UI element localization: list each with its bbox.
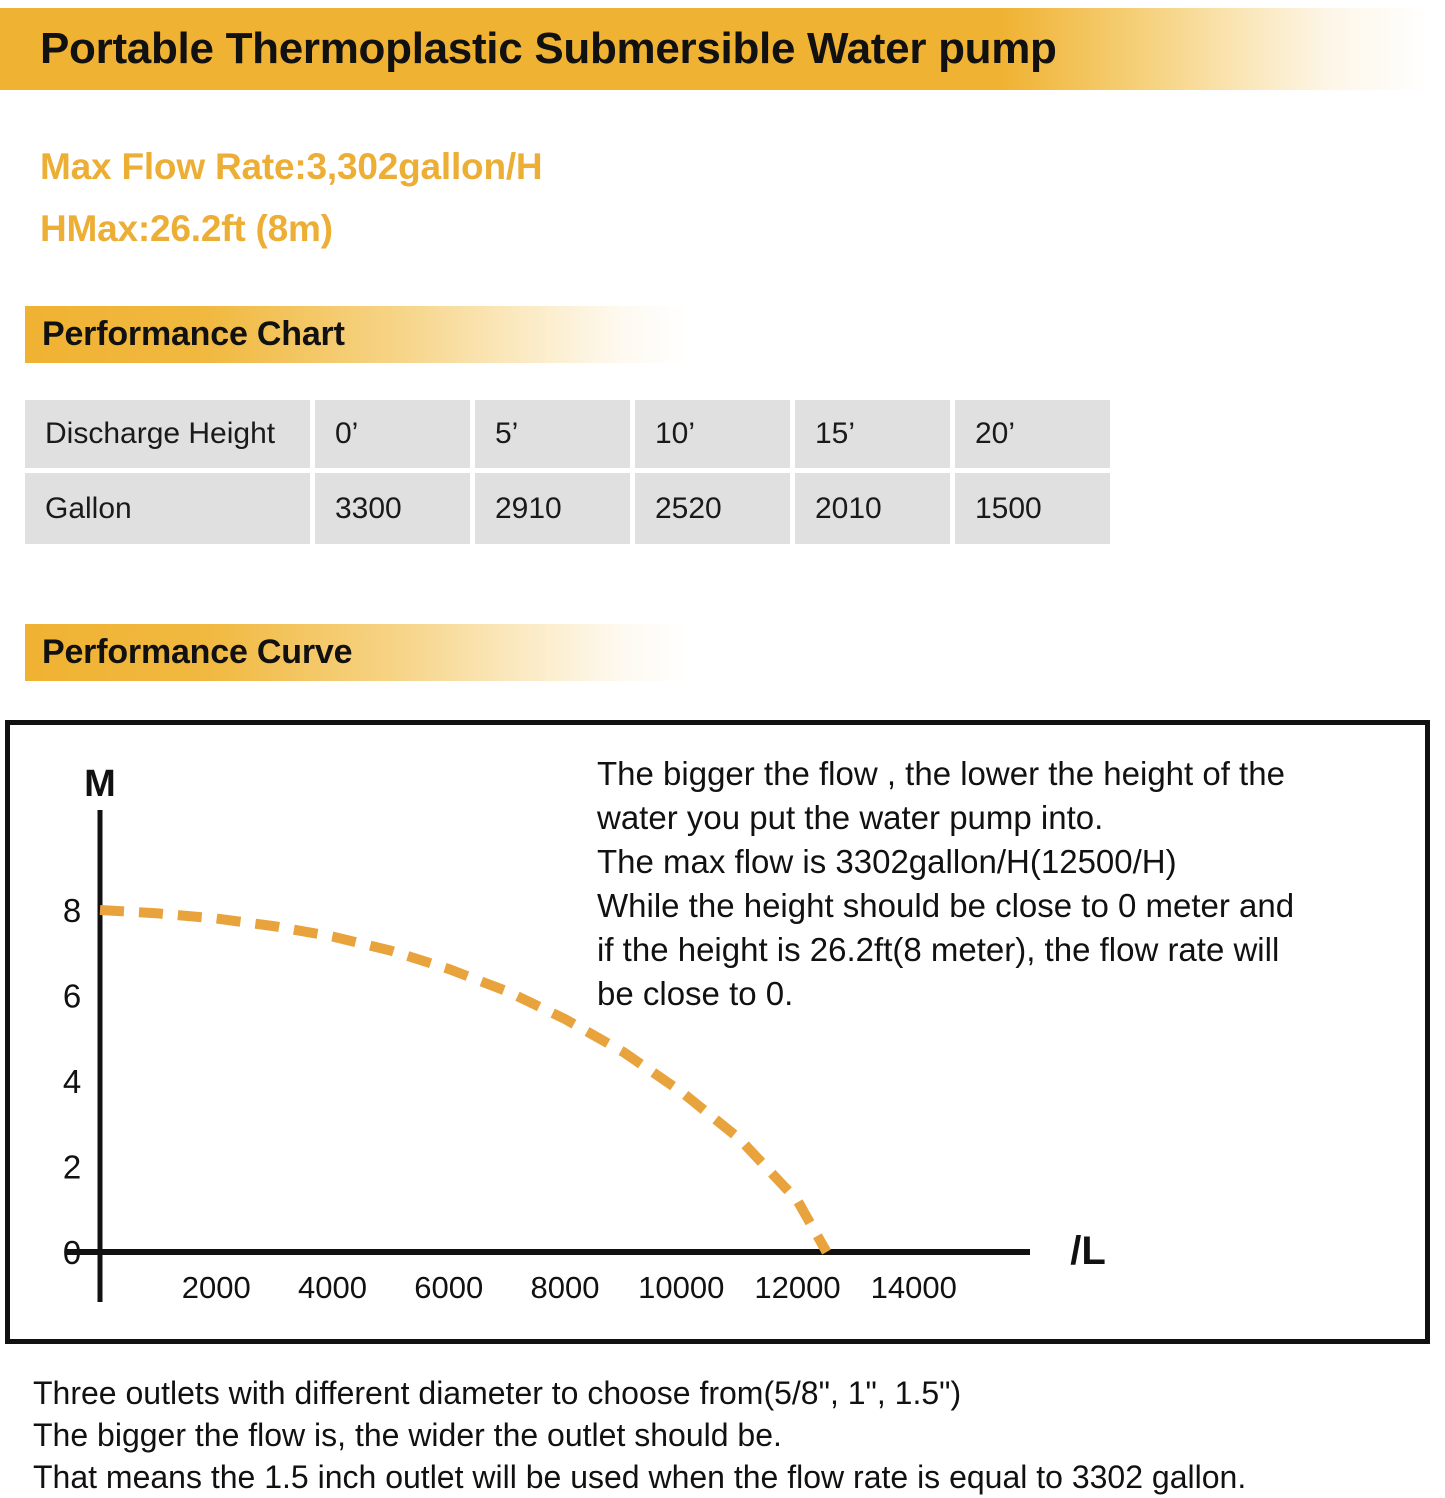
- table-cell-height-0: 0’: [315, 400, 470, 468]
- svg-text:0: 0: [63, 1234, 81, 1271]
- chart-description-line: The bigger the flow , the lower the heig…: [597, 752, 1427, 796]
- spec-max-flow-rate: Max Flow Rate:3,302gallon/H: [40, 146, 542, 188]
- chart-description-line: be close to 0.: [597, 972, 1427, 1016]
- svg-text:12000: 12000: [754, 1270, 840, 1305]
- svg-text:4000: 4000: [298, 1270, 367, 1305]
- table-cell-gallon-4: 1500: [955, 473, 1110, 544]
- svg-text:4: 4: [63, 1063, 81, 1100]
- svg-text:6: 6: [63, 978, 81, 1015]
- footer-note-line: That means the 1.5 inch outlet will be u…: [33, 1456, 1433, 1498]
- svg-text:8: 8: [63, 892, 81, 929]
- title-banner: Portable Thermoplastic Submersible Water…: [0, 8, 1430, 90]
- svg-text:2: 2: [63, 1149, 81, 1186]
- footer-note-line: The bigger the flow is, the wider the ou…: [33, 1414, 1433, 1456]
- performance-table: Discharge Height 0’ 5’ 10’ 15’ 20’ Gallo…: [20, 395, 1115, 549]
- svg-text:14000: 14000: [871, 1270, 957, 1305]
- svg-text:6000: 6000: [414, 1270, 483, 1305]
- section-header-performance-curve-label: Performance Curve: [42, 633, 352, 672]
- section-header-performance-curve: Performance Curve: [25, 624, 690, 681]
- svg-text:/L: /L: [1070, 1229, 1106, 1273]
- table-cell-gallon-0: 3300: [315, 473, 470, 544]
- svg-text:M: M: [84, 763, 116, 805]
- page-title: Portable Thermoplastic Submersible Water…: [40, 24, 1057, 74]
- table-cell-height-4: 20’: [955, 400, 1110, 468]
- table-row-label: Discharge Height: [25, 400, 310, 468]
- table-cell-gallon-3: 2010: [795, 473, 950, 544]
- table-cell-gallon-2: 2520: [635, 473, 790, 544]
- chart-description-line: water you put the water pump into.: [597, 796, 1427, 840]
- footer-note-line: Three outlets with different diameter to…: [33, 1372, 1433, 1414]
- svg-text:10000: 10000: [638, 1270, 724, 1305]
- spec-max-head: HMax:26.2ft (8m): [40, 208, 333, 250]
- table-cell-height-2: 10’: [635, 400, 790, 468]
- chart-description-line: The max flow is 3302gallon/H(12500/H): [597, 840, 1427, 884]
- chart-description-line: if the height is 26.2ft(8 meter), the fl…: [597, 928, 1427, 972]
- section-header-performance-chart-label: Performance Chart: [42, 315, 345, 354]
- table-cell-height-3: 15’: [795, 400, 950, 468]
- chart-description-line: While the height should be close to 0 me…: [597, 884, 1427, 928]
- chart-description: The bigger the flow , the lower the heig…: [597, 752, 1427, 1016]
- table-row-label: Gallon: [25, 473, 310, 544]
- table-cell-gallon-1: 2910: [475, 473, 630, 544]
- table-row-gallon: Gallon 3300 2910 2520 2010 1500: [25, 473, 1110, 544]
- table-cell-height-1: 5’: [475, 400, 630, 468]
- svg-text:2000: 2000: [182, 1270, 251, 1305]
- section-header-performance-chart: Performance Chart: [25, 306, 690, 363]
- table-row-discharge-height: Discharge Height 0’ 5’ 10’ 15’ 20’: [25, 400, 1110, 468]
- svg-text:8000: 8000: [531, 1270, 600, 1305]
- footer-notes: Three outlets with different diameter to…: [33, 1372, 1433, 1498]
